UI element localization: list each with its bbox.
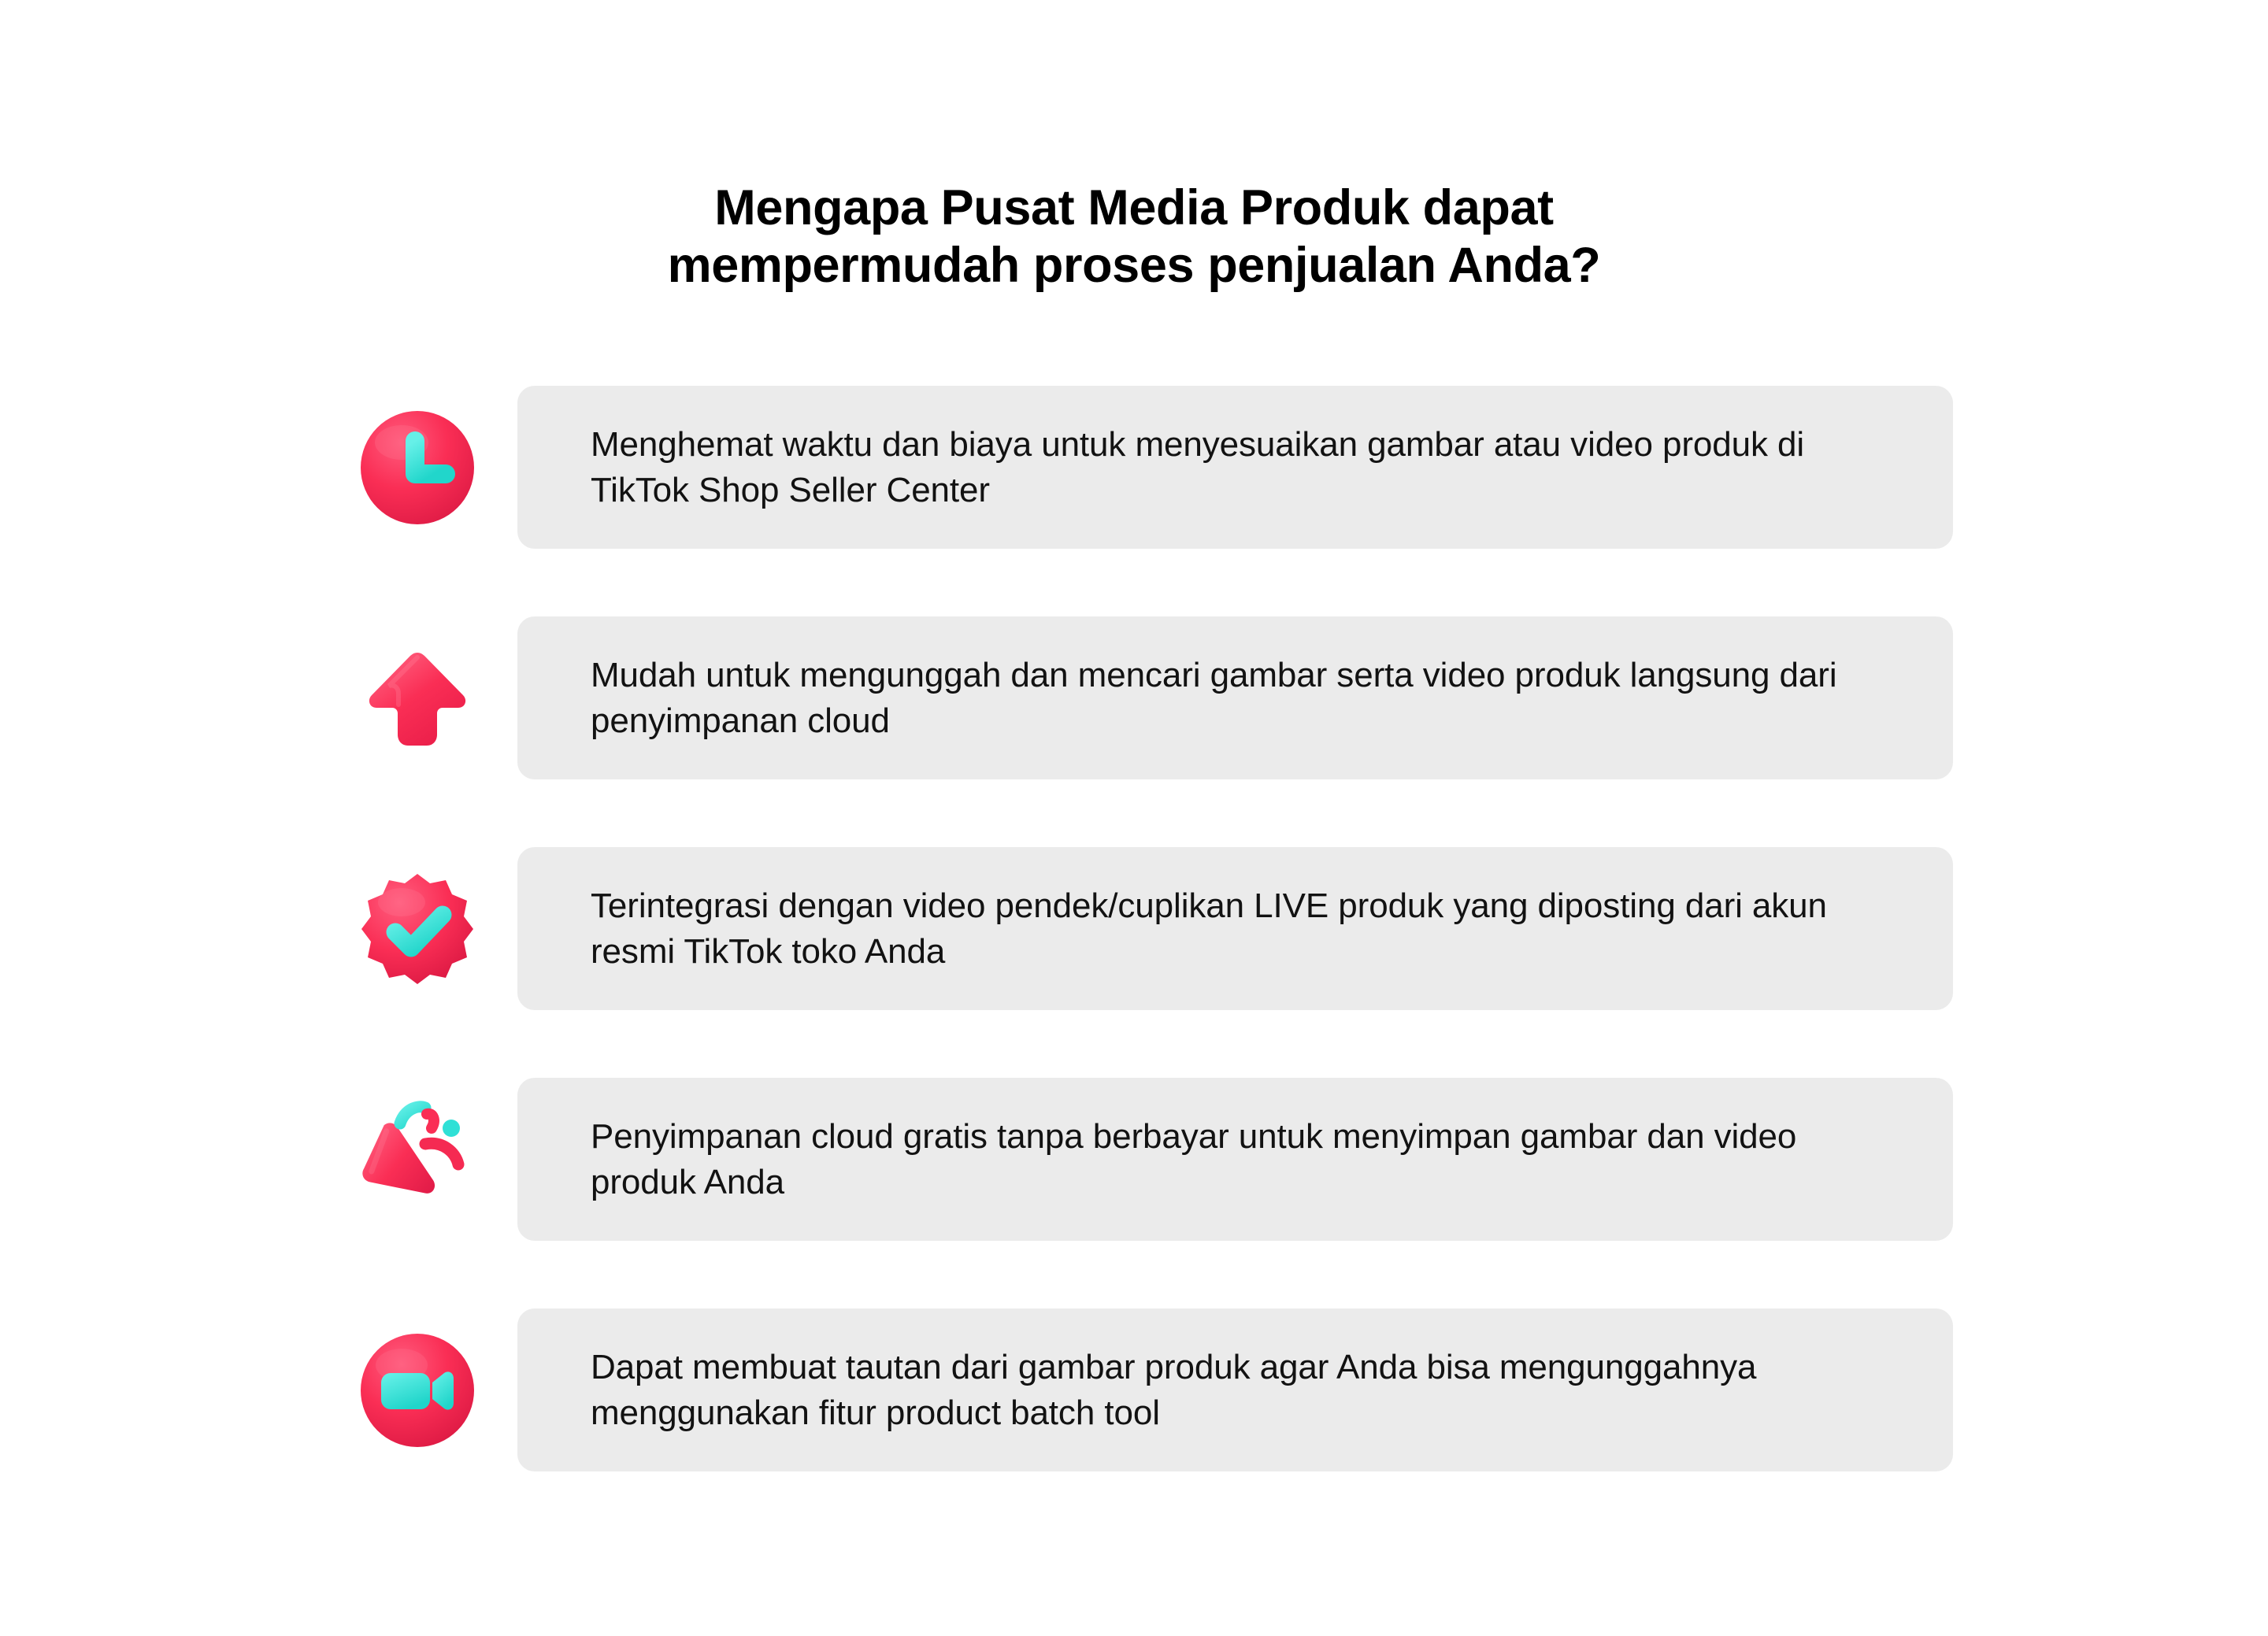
clock-icon (346, 386, 488, 549)
feature-row: Dapat membuat tautan dari gambar produk … (0, 1308, 2268, 1471)
feature-pill: Dapat membuat tautan dari gambar produk … (517, 1308, 1953, 1471)
feature-text: Terintegrasi dengan video pendek/cuplika… (517, 883, 1923, 975)
video-camera-icon (346, 1308, 488, 1471)
page-title: Mengapa Pusat Media Produk dapat memperm… (0, 180, 2268, 294)
feature-row: Menghemat waktu dan biaya untuk menyesua… (0, 386, 2268, 549)
feature-text: Mudah untuk mengunggah dan mencari gamba… (517, 653, 1923, 744)
page-title-line-2: mempermudah proses penjualan Anda? (189, 237, 2079, 294)
feature-pill: Mudah untuk mengunggah dan mencari gamba… (517, 616, 1953, 779)
feature-list: Menghemat waktu dan biaya untuk menyesua… (0, 386, 2268, 1471)
party-popper-icon (346, 1078, 488, 1241)
feature-text: Penyimpanan cloud gratis tanpa berbayar … (517, 1114, 1923, 1205)
feature-text: Menghemat waktu dan biaya untuk menyesua… (517, 422, 1923, 513)
feature-text: Dapat membuat tautan dari gambar produk … (517, 1345, 1923, 1436)
verified-badge-check-icon (346, 847, 488, 1010)
feature-row: Mudah untuk mengunggah dan mencari gamba… (0, 616, 2268, 779)
infographic-page: Mengapa Pusat Media Produk dapat memperm… (0, 0, 2268, 1636)
feature-pill: Terintegrasi dengan video pendek/cuplika… (517, 847, 1953, 1010)
feature-pill: Menghemat waktu dan biaya untuk menyesua… (517, 386, 1953, 549)
feature-row: Terintegrasi dengan video pendek/cuplika… (0, 847, 2268, 1010)
feature-row: Penyimpanan cloud gratis tanpa berbayar … (0, 1078, 2268, 1241)
page-title-line-1: Mengapa Pusat Media Produk dapat (189, 180, 2079, 237)
feature-pill: Penyimpanan cloud gratis tanpa berbayar … (517, 1078, 1953, 1241)
arrow-up-icon (346, 616, 488, 779)
